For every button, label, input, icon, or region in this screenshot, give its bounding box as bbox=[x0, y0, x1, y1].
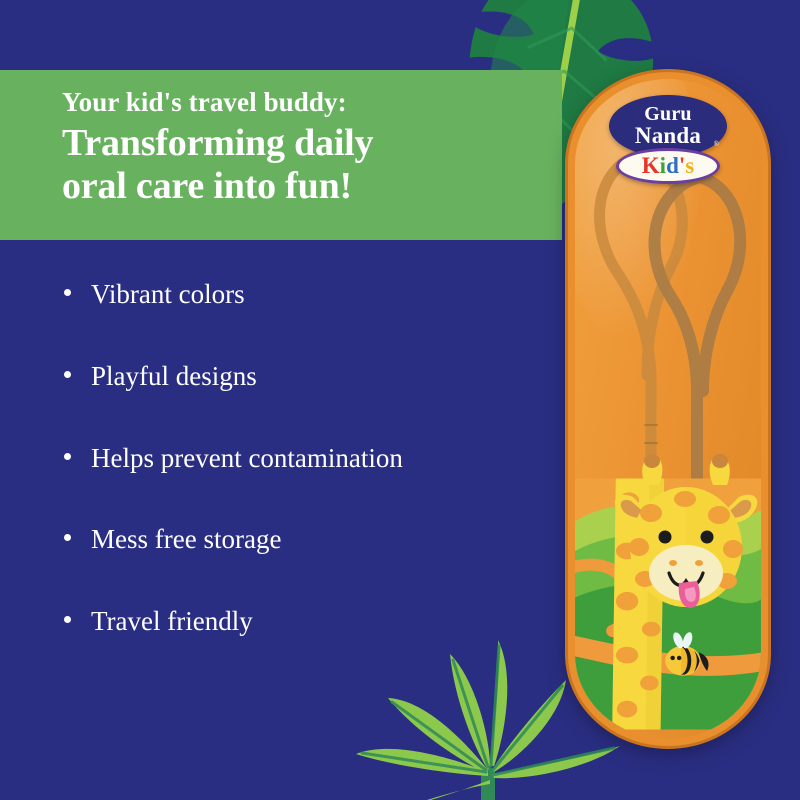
registered-trademark-icon: ® bbox=[714, 140, 719, 148]
feature-label: Mess free storage bbox=[91, 523, 281, 557]
headline-kicker: Your kid's travel buddy: bbox=[62, 86, 542, 118]
bullet-dot-icon bbox=[64, 289, 71, 296]
product-poster: Your kid's travel buddy: Transforming da… bbox=[0, 0, 800, 800]
feature-list: Vibrant colors Playful designs Helps pre… bbox=[64, 278, 564, 687]
kids-letter-s: s bbox=[685, 153, 694, 178]
sub-brand-label: Kid's bbox=[619, 153, 717, 179]
kids-letter-k: K bbox=[642, 153, 660, 178]
list-item: Vibrant colors bbox=[64, 278, 564, 312]
package-face: Guru Nanda ® Kid's bbox=[575, 79, 761, 739]
list-item: Playful designs bbox=[64, 360, 564, 394]
feature-label: Vibrant colors bbox=[91, 278, 245, 312]
bullet-dot-icon bbox=[64, 616, 71, 623]
feature-label: Playful designs bbox=[91, 360, 257, 394]
bullet-dot-icon bbox=[64, 534, 71, 541]
feature-label: Helps prevent contamination bbox=[91, 442, 403, 476]
list-item: Travel friendly bbox=[64, 605, 564, 639]
brand-name-line-2: Nanda bbox=[609, 123, 727, 149]
brand-logo: Guru Nanda ® Kid's bbox=[605, 95, 731, 184]
headline-line-1: Transforming daily bbox=[62, 122, 542, 165]
bullet-dot-icon bbox=[64, 371, 71, 378]
feature-label: Travel friendly bbox=[91, 605, 253, 639]
kids-letter-d: d bbox=[666, 153, 679, 178]
bullet-dot-icon bbox=[64, 453, 71, 460]
giraffe-icon bbox=[611, 451, 761, 611]
list-item: Helps prevent contamination bbox=[64, 442, 564, 476]
list-item: Mess free storage bbox=[64, 523, 564, 557]
headline-line-2: oral care into fun! bbox=[62, 165, 542, 208]
sub-brand-badge: Kid's bbox=[616, 148, 720, 184]
headline-banner: Your kid's travel buddy: Transforming da… bbox=[0, 70, 562, 240]
product-package[interactable]: Guru Nanda ® Kid's bbox=[568, 72, 768, 746]
